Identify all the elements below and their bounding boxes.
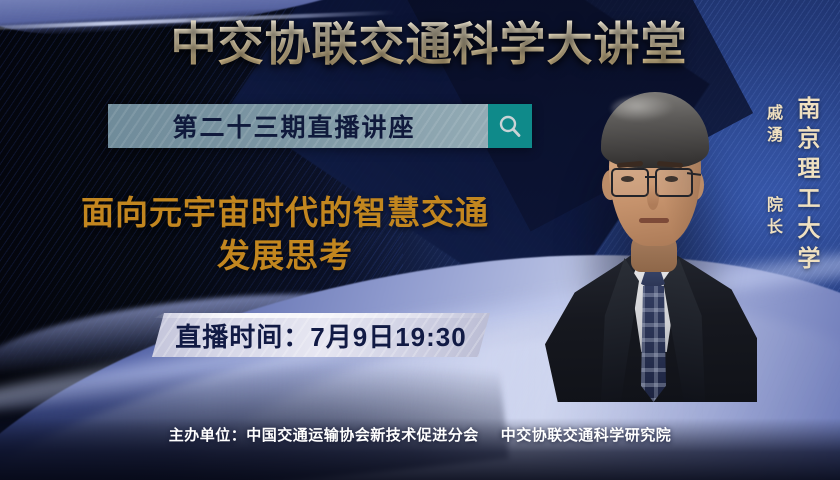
portrait-mouth [639, 218, 669, 223]
portrait-hair-highlight [611, 96, 675, 122]
lecture-title-line-1: 面向元宇宙时代的智慧交通 [28, 192, 542, 235]
portrait-glasses-lens-left [611, 168, 649, 197]
portrait-tie [641, 286, 666, 402]
speaker-role: 院长 [760, 196, 784, 240]
episode-banner-label: 第二十三期直播讲座 [108, 104, 488, 148]
page-title: 中交协联交通科学大讲堂 [0, 16, 840, 72]
speaker-university: 南京理工大学 [790, 96, 824, 276]
footer-organizers: 主办单位：中国交通运输协会新技术促进分会中交协联交通科学研究院 [0, 424, 840, 445]
lecture-title: 面向元宇宙时代的智慧交通 发展思考 [28, 192, 542, 278]
search-icon[interactable] [488, 104, 532, 148]
broadcast-time-badge: 直播时间：7月9日19:30 [152, 313, 490, 357]
footer-org-1: 中国交通运输协会新技术促进分会 [246, 427, 479, 444]
lecture-title-line-2: 发展思考 [28, 235, 542, 278]
speaker-name: 戚湧 [760, 104, 784, 148]
live-lecture-poster: 中交协联交通科学大讲堂 第二十三期直播讲座 面向元宇宙时代的智慧交通 发展思考 … [0, 0, 840, 480]
portrait-nose [647, 184, 659, 210]
footer-org-2: 中交协联交通科学研究院 [501, 427, 672, 444]
footer-prefix: 主办单位： [169, 427, 247, 444]
speaker-portrait [545, 72, 757, 402]
portrait-glasses-bridge [645, 176, 655, 178]
episode-banner: 第二十三期直播讲座 [108, 104, 532, 148]
